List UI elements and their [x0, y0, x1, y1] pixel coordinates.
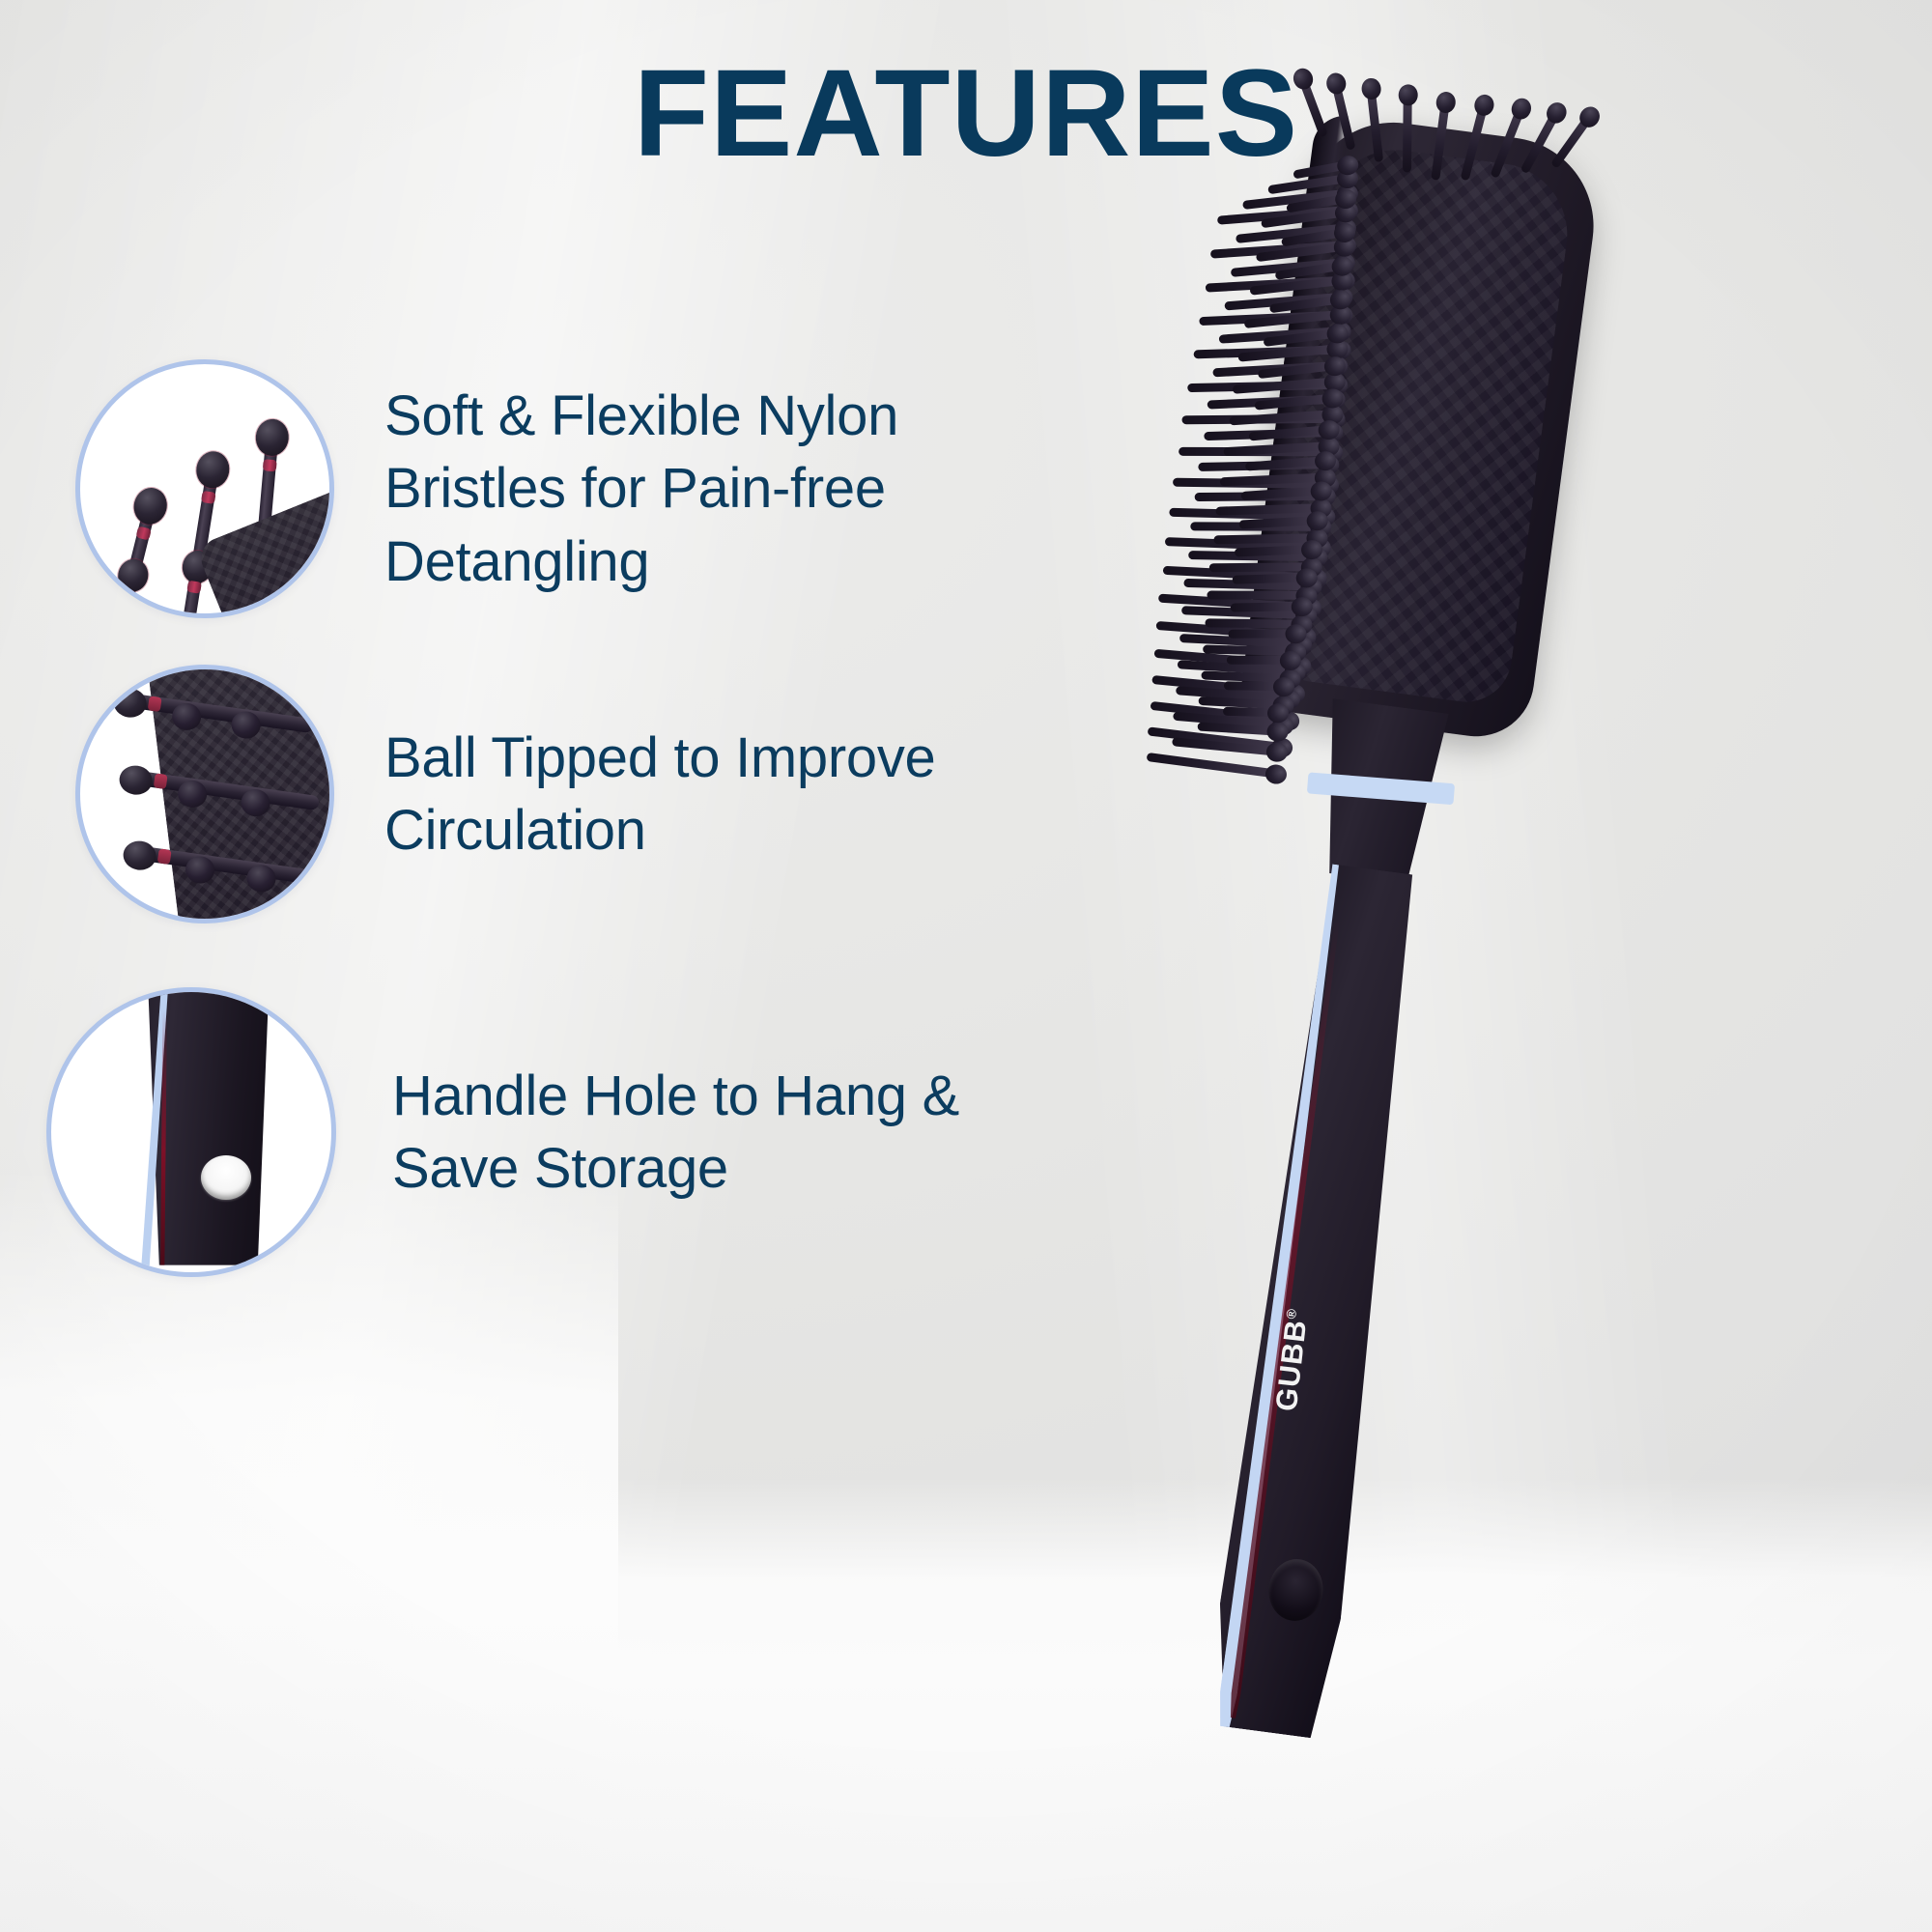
brush-bristle: [1231, 602, 1301, 611]
brand-registered-mark: ®: [1283, 1307, 1299, 1320]
brush-bristle: [1227, 655, 1290, 664]
brush-bristle: [1147, 753, 1276, 778]
brush-bristle: [1210, 563, 1312, 573]
feature-label-1: Soft & Flexible Nylon Bristles for Pain-…: [384, 380, 1022, 598]
feature-label-3: Handle Hole to Hang & Save Storage: [392, 1060, 1030, 1206]
brush-bristle: [1229, 629, 1295, 639]
brush-bristle: [1299, 78, 1328, 137]
brush-bristle: [1223, 707, 1277, 717]
feature-item-1: Soft & Flexible Nylon Bristles for Pain-…: [75, 359, 1041, 618]
feature-item-2: Ball Tipped to Improve Circulation: [75, 665, 1041, 923]
brush-bristle: [1207, 591, 1306, 600]
brush-bristle: [1403, 96, 1412, 172]
bristle-strand: [104, 484, 171, 618]
feature-thumbnail-ball-tipped: [75, 665, 334, 923]
feature-thumbnail-handle-hole: [46, 987, 336, 1277]
feature-thumbnail-bristle-tips: [75, 359, 334, 618]
brush-bristle: [1205, 618, 1300, 628]
feature-label-2: Ball Tipped to Improve Circulation: [384, 722, 1022, 867]
hang-hole-icon: [201, 1155, 251, 1200]
brush-bristle: [1225, 681, 1284, 691]
feature-item-3: Handle Hole to Hang & Save Storage: [46, 987, 1041, 1277]
handle-closeup-graphic: [125, 987, 270, 1265]
product-image-hair-brush: GUBB®: [1111, 72, 1710, 1840]
